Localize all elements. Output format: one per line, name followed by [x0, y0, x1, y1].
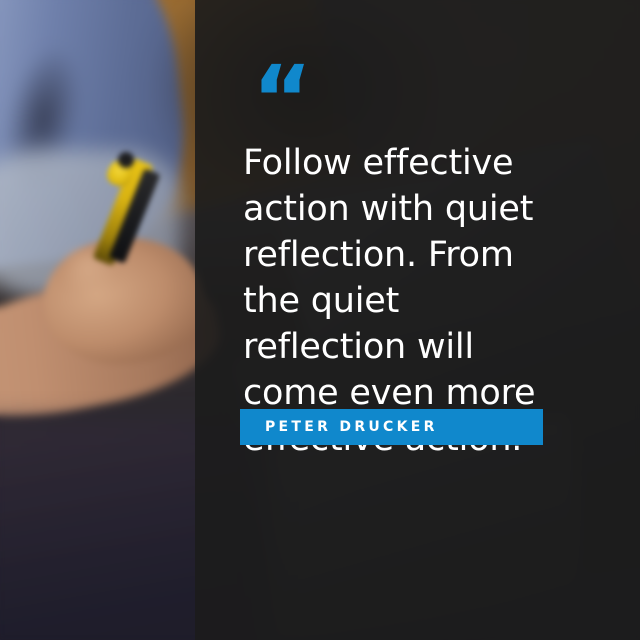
attribution-badge: PETER DRUCKER — [240, 409, 543, 445]
quote-card: “ Follow effective action with quiet ref… — [0, 0, 640, 640]
open-quotation-mark-icon: “ — [252, 54, 310, 146]
author-name: PETER DRUCKER — [240, 419, 438, 435]
quote-content: “ Follow effective action with quiet ref… — [243, 0, 573, 640]
